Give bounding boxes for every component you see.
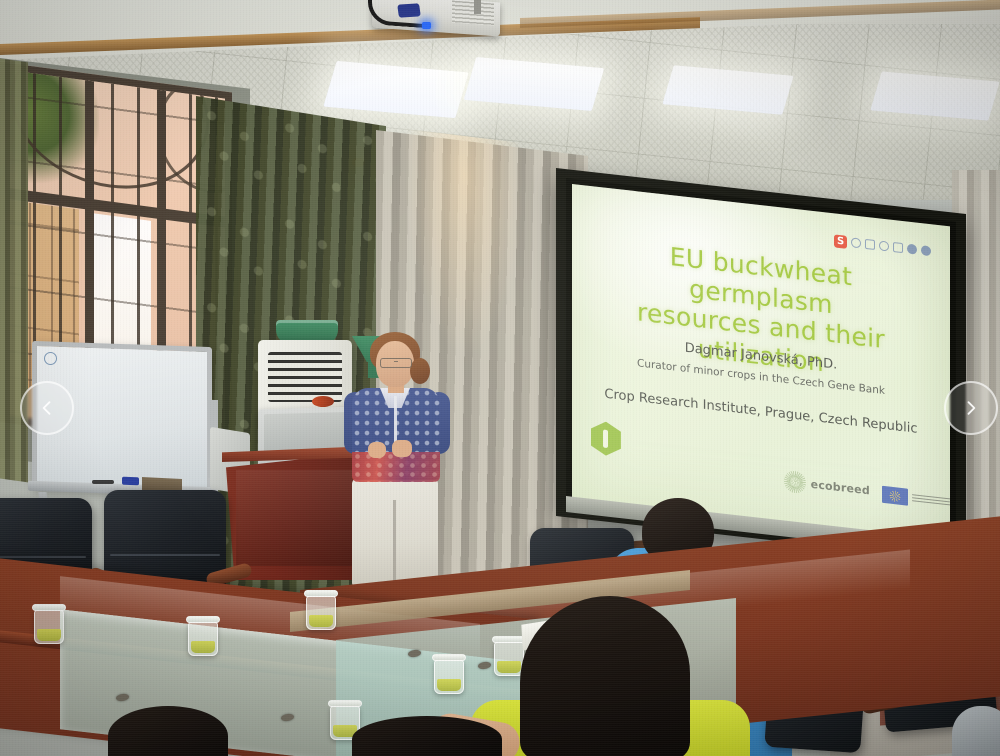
hexagon-logo-icon — [591, 420, 621, 457]
whiteboard-marker-blue — [122, 477, 139, 486]
tea-cup-lid — [328, 700, 362, 707]
air-conditioner-vent-icon — [268, 352, 342, 402]
projector-vent-icon — [452, 1, 494, 26]
presenter-glasses-icon — [380, 358, 412, 368]
chair-seam — [110, 554, 220, 556]
presenter-hair-bun — [410, 358, 430, 384]
eye-icon[interactable] — [851, 237, 861, 248]
whiteboard-pen — [92, 480, 114, 484]
tea-cup — [434, 660, 464, 694]
podium-front-panel — [236, 470, 358, 566]
chevron-left-icon — [37, 398, 57, 418]
presentation-slide: S EU buckwheat germplasm resources and t… — [572, 184, 950, 542]
projector-mount — [474, 0, 481, 14]
tea-cup-lid — [32, 604, 66, 611]
toolbox-icon[interactable] — [921, 245, 931, 256]
chair-seam — [0, 556, 86, 558]
tea-cup-lid — [432, 654, 466, 661]
whiteboard-logo-icon — [44, 352, 57, 365]
ecobreed-logo-text: ecobreed — [811, 478, 870, 498]
presenter-hand-right — [392, 440, 412, 457]
next-image-button[interactable] — [944, 381, 998, 435]
eu-flag-icon — [882, 486, 908, 506]
eu-badge-text-lines — [912, 494, 950, 506]
presenter-hand-left — [368, 442, 386, 458]
previous-image-button[interactable] — [20, 381, 74, 435]
eu-funding-badge — [882, 486, 950, 511]
pen-tip-icon[interactable] — [865, 239, 875, 250]
ecobreed-logo: ecobreed — [784, 470, 870, 502]
tea-cup-lid — [186, 616, 220, 623]
audience-member-head-foreground — [352, 716, 502, 756]
audience-member-far-right — [952, 706, 1000, 756]
keyboard-icon[interactable] — [907, 244, 917, 255]
tea-cup-lid — [304, 590, 338, 597]
ime-toolbar[interactable]: S — [834, 234, 931, 258]
ecobreed-mark-icon — [784, 470, 806, 494]
curtain-light-glow — [404, 129, 524, 364]
tea-cup — [188, 622, 218, 656]
tea-cup — [494, 642, 524, 676]
sogou-badge-icon[interactable]: S — [834, 234, 847, 248]
presenter-trouser-seam — [393, 500, 396, 586]
pencil-icon[interactable] — [893, 242, 903, 253]
circle-icon[interactable] — [879, 240, 889, 251]
tea-cup — [34, 610, 64, 644]
tea-cup — [306, 596, 336, 630]
chevron-right-icon — [961, 398, 981, 418]
photo-viewer-stage: 工 润 驰 中 S EU buckwheat germplasm resourc… — [0, 0, 1000, 756]
projection-screen: S EU buckwheat germplasm resources and t… — [572, 184, 950, 542]
projector-power-led — [422, 22, 431, 29]
air-conditioner-brand-badge — [312, 396, 334, 407]
tea-cup-lid — [492, 636, 526, 643]
